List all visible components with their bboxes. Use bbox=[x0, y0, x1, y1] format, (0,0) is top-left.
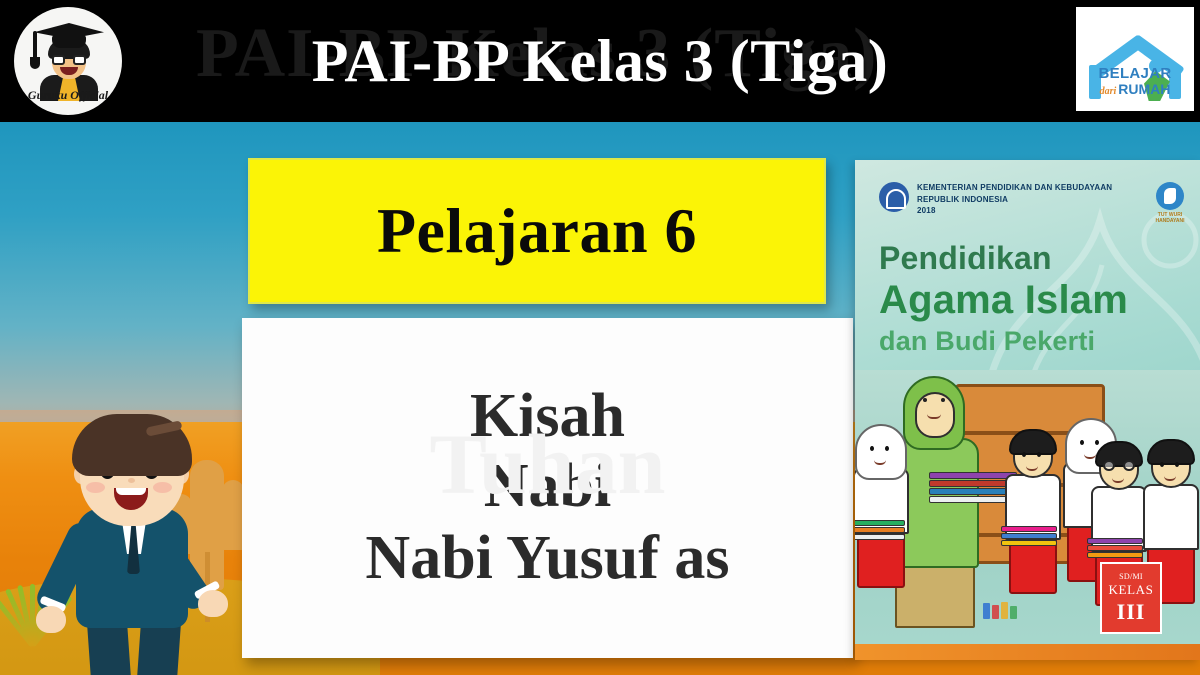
bdr-dari: dari bbox=[1100, 86, 1117, 97]
book-title-line-2: Agama Islam bbox=[879, 278, 1128, 323]
slide-canvas: PAI-BP Kelas 3 (Tiga) PAI-BP Kelas 3 (Ti… bbox=[0, 0, 1200, 675]
cap-tassel bbox=[33, 31, 37, 59]
book-title-line-3: dan Budi Pekerti bbox=[879, 326, 1095, 357]
header-bar: PAI-BP Kelas 3 (Tiga) PAI-BP Kelas 3 (Ti… bbox=[0, 0, 1200, 122]
lesson-banner: Pelajaran 6 bbox=[248, 158, 826, 304]
guruku-official-logo[interactable]: Guruku Official bbox=[14, 7, 122, 115]
guruku-logo-label: Guruku Official bbox=[14, 88, 122, 103]
ministry-line-2: REPUBLIK INDONESIA bbox=[917, 194, 1112, 206]
belajar-dari-rumah-logo[interactable]: BELAJAR dariRUMAH bbox=[1076, 7, 1194, 111]
ministry-year: 2018 bbox=[917, 205, 1112, 217]
glasses-icon bbox=[52, 55, 86, 65]
bdr-line2: dariRUMAH bbox=[1092, 81, 1178, 97]
title-line-1: Kisah bbox=[470, 384, 625, 450]
cover-bottom-strip bbox=[855, 644, 1200, 660]
textbook-cover: KEMENTERIAN PENDIDIKAN DAN KEBUDAYAAN RE… bbox=[855, 160, 1200, 660]
badge-class-number: III bbox=[1117, 599, 1146, 625]
book-title-line-1: Pendidikan bbox=[879, 240, 1052, 277]
bdr-rumah: RUMAH bbox=[1118, 81, 1170, 97]
ministry-block: KEMENTERIAN PENDIDIKAN DAN KEBUDAYAAN RE… bbox=[879, 182, 1112, 217]
title-panel: Tuhan Kisah Nabi Nabi Yusuf as bbox=[242, 318, 853, 658]
page-title: PAI-BP Kelas 3 (Tiga) bbox=[0, 0, 1200, 122]
cover-illustration: SD/MI KELAS III bbox=[855, 370, 1200, 660]
cap-band bbox=[52, 35, 86, 48]
class-level-badge: SD/MI KELAS III bbox=[1100, 562, 1162, 634]
ministry-logo-icon bbox=[879, 182, 909, 212]
lesson-banner-label: Pelajaran 6 bbox=[377, 194, 697, 268]
ministry-line-1: KEMENTERIAN PENDIDIKAN DAN KEBUDAYAAN bbox=[917, 182, 1112, 194]
title-line-3: Nabi Yusuf as bbox=[365, 526, 729, 592]
tutwuri-caption: TUT WURI HANDAYANI bbox=[1148, 212, 1192, 224]
bdr-line1: BELAJAR bbox=[1092, 65, 1178, 82]
cartoon-man-character bbox=[28, 400, 238, 675]
badge-kelas-label: KELAS bbox=[1109, 582, 1154, 598]
title-line-2: Nabi bbox=[484, 454, 611, 520]
ministry-text: KEMENTERIAN PENDIDIKAN DAN KEBUDAYAAN RE… bbox=[917, 182, 1112, 217]
badge-school-level: SD/MI bbox=[1119, 572, 1143, 581]
tutwuri-logo-icon bbox=[1156, 182, 1184, 210]
